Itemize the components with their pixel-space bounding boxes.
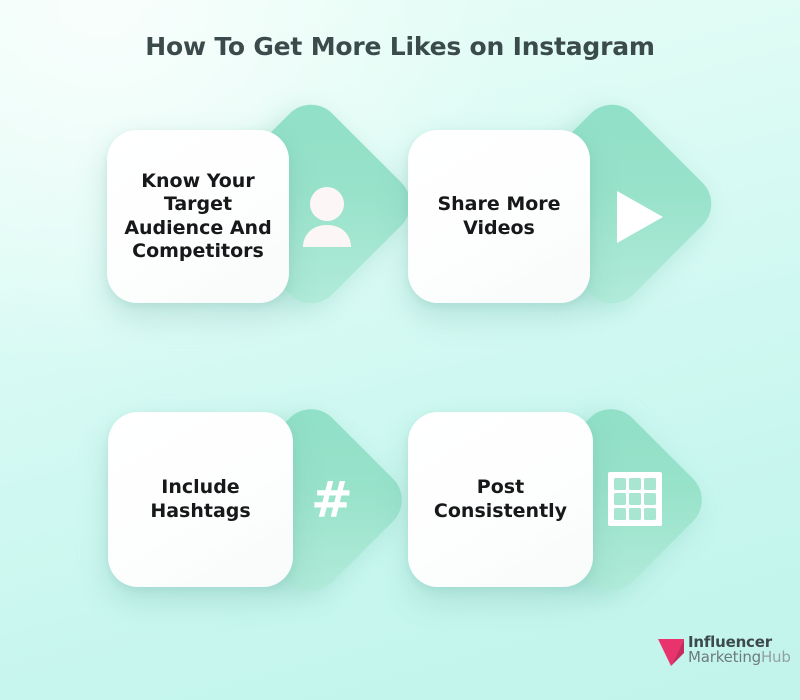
grid-icon <box>608 472 662 526</box>
step-label-4: Post Consistently <box>434 476 567 522</box>
arrow-mark-icon <box>656 633 686 667</box>
brand-name-hub: Hub <box>761 648 791 666</box>
page-title: How To Get More Likes on Instagram <box>0 32 800 61</box>
step-card-surface-2[interactable]: Share More Videos <box>408 130 590 303</box>
step-label-3: Include Hashtags <box>150 476 250 522</box>
step-card-surface-3[interactable]: Include Hashtags <box>108 412 293 587</box>
infographic-canvas: How To Get More Likes on Instagram Know … <box>0 0 800 700</box>
hashtag-icon: # <box>306 472 358 528</box>
brand-name-secondary: MarketingHub <box>688 650 791 665</box>
brand-logo-text: Influencer MarketingHub <box>688 635 791 666</box>
brand-logo[interactable]: Influencer MarketingHub <box>656 633 791 667</box>
step-label-2: Share More Videos <box>437 193 560 239</box>
brand-name-marketing: Marketing <box>688 648 761 666</box>
step-card-surface-1[interactable]: Know Your Target Audience And Competitor… <box>107 130 289 303</box>
step-label-1: Know Your Target Audience And Competitor… <box>124 170 271 263</box>
play-icon <box>612 188 666 246</box>
step-card-surface-4[interactable]: Post Consistently <box>408 412 593 587</box>
hashtag-glyph: # <box>311 475 353 525</box>
person-icon <box>300 186 354 248</box>
